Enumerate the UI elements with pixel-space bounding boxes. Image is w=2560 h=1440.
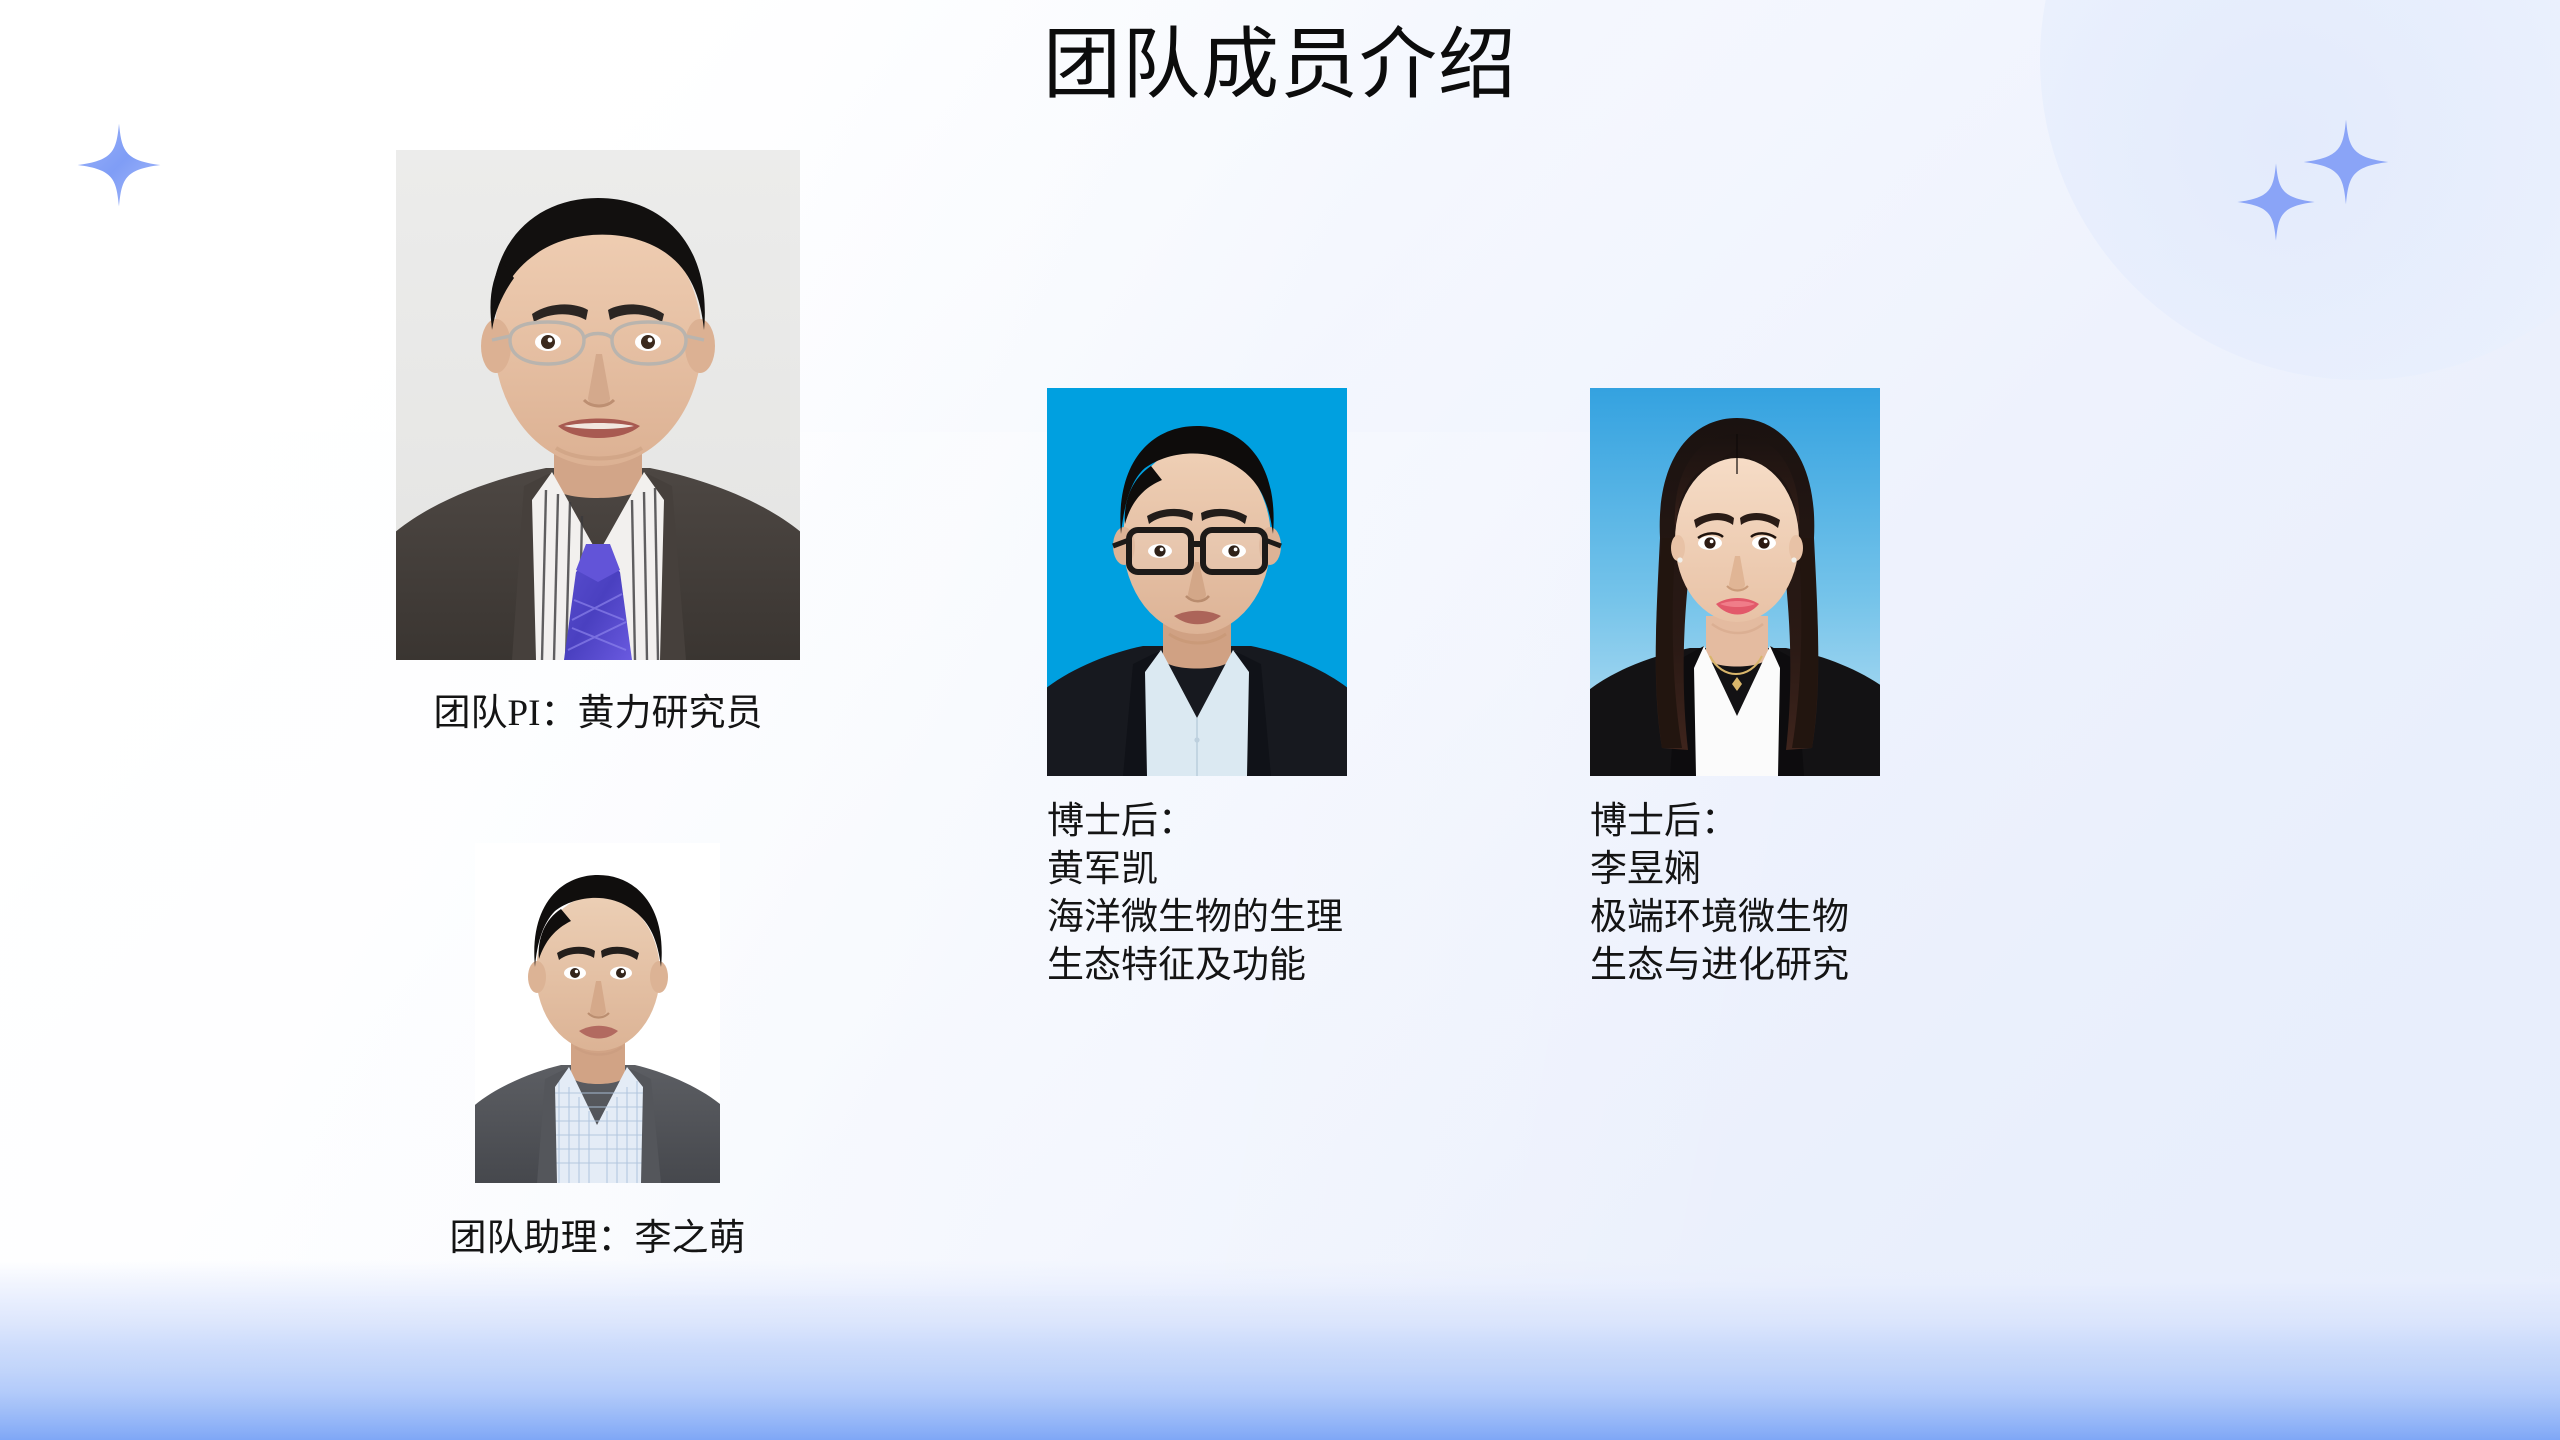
caption-assistant: 团队助理：李之萌	[395, 1215, 800, 1263]
member-card-assistant: 团队助理：李之萌	[475, 843, 800, 1263]
slide-canvas: 团队成员介绍	[0, 0, 2560, 1440]
portrait-huang-li	[396, 150, 800, 660]
portrait-li-yuxian	[1590, 388, 1880, 776]
member-card-pi: 团队PI：黄力研究员	[396, 150, 800, 738]
sparkle-right-upper-icon	[2300, 116, 2392, 208]
member-card-postdoc2: 博士后： 李昱娴 极端环境微生物 生态与进化研究	[1590, 388, 2030, 990]
bottom-gradient-highlight	[0, 1344, 2560, 1440]
caption-postdoc2: 博士后： 李昱娴 极端环境微生物 生态与进化研究	[1590, 798, 2030, 990]
caption-pi: 团队PI：黄力研究员	[396, 690, 800, 738]
caption-postdoc1: 博士后： 黄军凯 海洋微生物的生理 生态特征及功能	[1047, 798, 1487, 990]
member-card-postdoc1: 博士后： 黄军凯 海洋微生物的生理 生态特征及功能	[1047, 388, 1487, 990]
page-title: 团队成员介绍	[0, 22, 2560, 108]
sparkle-top-left-icon	[74, 120, 164, 210]
portrait-huang-junkai	[1047, 388, 1347, 776]
portrait-li-zhimeng	[475, 843, 720, 1183]
